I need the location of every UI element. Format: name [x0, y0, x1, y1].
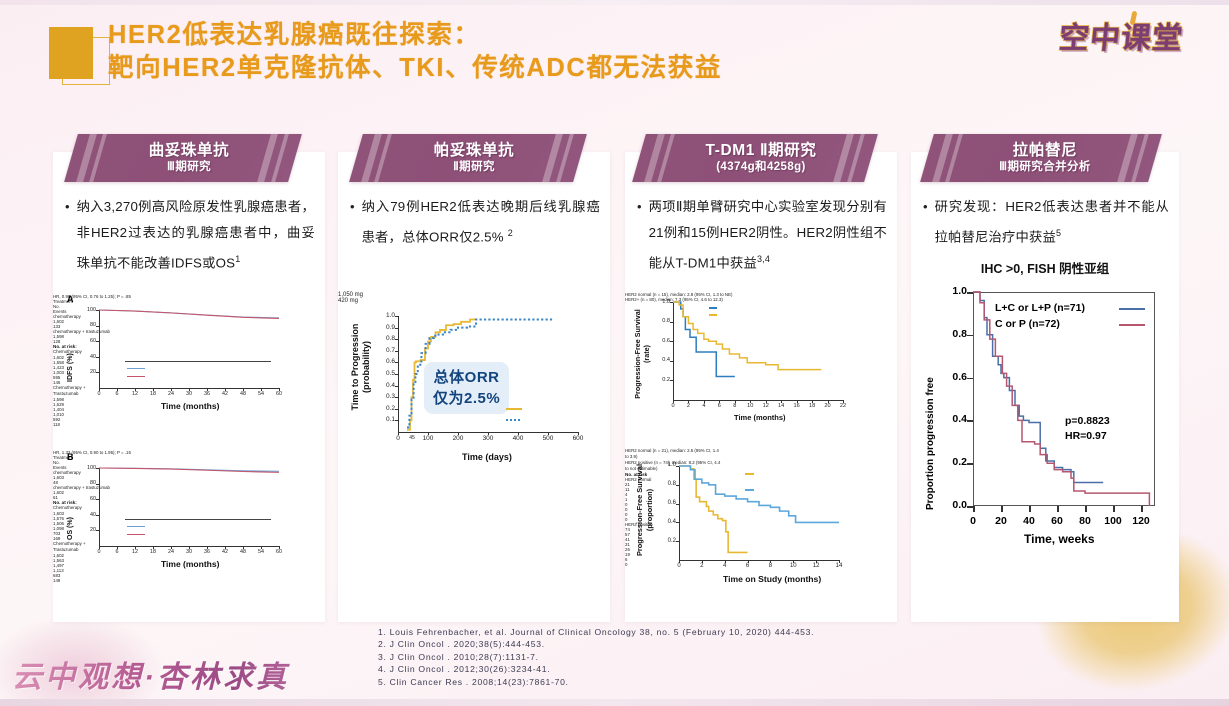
legend-swatch: [745, 473, 754, 475]
panel-bullet: • 研究发现：HER2低表达患者并不能从拉帕替尼治疗中获益5: [923, 194, 1169, 250]
legend-swatch: [506, 419, 522, 421]
chart-series-line: [673, 302, 821, 370]
chart-pfs-rate: 02468101214161820220.20.40.60.81.0Progre…: [625, 292, 897, 448]
reference-item: 3. J Clin Oncol . 2010;28(7):1131-7.: [378, 651, 1078, 663]
legend-swatch: [1119, 308, 1145, 310]
chart-idfs: A0612182430364248546020406080100IDFS (%)…: [53, 294, 325, 446]
chart-series-line: [679, 466, 839, 522]
panel-banner: [64, 134, 302, 182]
chart-stat-line: p=0.8823: [1065, 414, 1110, 429]
bullet-text: 纳入79例HER2低表达晚期后线乳腺癌患者，总体ORR仅2.5% 2: [362, 194, 600, 250]
slide-header: HER2低表达乳腺癌既往探索： 靶向HER2单克隆抗体、TKI、传统ADC都无法…: [0, 5, 1229, 97]
legend-swatch: [506, 408, 522, 410]
legend-label: C or P (n=72): [995, 316, 1060, 332]
chart-curves: [338, 292, 610, 592]
reference-item: 1. Louis Fehrenbacher, et al. Journal of…: [378, 626, 1078, 638]
bullet-text: 两项Ⅱ期单臂研究中心实验室发现分别有21例和15例HER2阴性。HER2阴性组不…: [649, 194, 887, 276]
panel-pertuzumab: 帕妥珠单抗 Ⅱ期研究 • 纳入79例HER2低表达晚期后线乳腺癌患者，总体ORR…: [338, 152, 610, 622]
page-title: HER2低表达乳腺癌既往探索： 靶向HER2单克隆抗体、TKI、传统ADC都无法…: [108, 19, 888, 85]
legend-swatch: [127, 534, 145, 535]
chart-curves: [53, 450, 325, 610]
reference-item: 4. J Clin Oncol . 2012;30(26):3234-41.: [378, 663, 1078, 675]
chart-series-line: [99, 468, 279, 472]
bottom-border: [0, 699, 1229, 706]
reference-item: 5. Clin Cancer Res . 2008;14(23):7861-70…: [378, 676, 1078, 688]
bullet-text: 纳入3,270例高风险原发性乳腺癌患者，非HER2过表达的乳腺癌患者中，曲妥珠单…: [77, 194, 315, 276]
bullet-dot-icon: •: [923, 194, 928, 250]
chart-time-to-progression: 01002003004005006000.10.20.30.40.50.60.7…: [338, 292, 610, 592]
chart-lapatinib-pfs: IHC >0, FISH 阴性亚组0.00.20.40.60.81.002040…: [911, 252, 1179, 592]
panel-bullet: • 两项Ⅱ期单臂研究中心实验室发现分别有21例和15例HER2阴性。HER2阴性…: [637, 194, 887, 276]
orr-callout-line: 仅为2.5%: [433, 388, 500, 409]
chart-pfs-proportion: 024681012140.20.40.60.81.0Progression-Fr…: [625, 448, 897, 618]
chart-curves: [625, 448, 897, 618]
panel-bullet: • 纳入3,270例高风险原发性乳腺癌患者，非HER2过表达的乳腺癌患者中，曲妥…: [65, 194, 315, 276]
panel-bullet: • 纳入79例HER2低表达晚期后线乳腺癌患者，总体ORR仅2.5% 2: [350, 194, 600, 250]
references-list: 1. Louis Fehrenbacher, et al. Journal of…: [378, 626, 1078, 688]
panel-banner: [920, 134, 1162, 182]
legend-swatch: [709, 307, 717, 309]
legend-swatch: [127, 376, 145, 377]
panel-banner: [632, 134, 878, 182]
legend-label: L+C or L+P (n=71): [995, 300, 1085, 316]
bullet-dot-icon: •: [350, 194, 355, 250]
legend-rule: [125, 519, 271, 520]
chart-series-line: [679, 466, 748, 552]
chart-stat-line: HR=0.97: [1065, 429, 1110, 444]
chart-os: B0612182430364248546020406080100OS (%)Ti…: [53, 450, 325, 610]
legend-swatch: [745, 489, 754, 491]
chart-curves: [625, 292, 897, 448]
brand-footer: 云中观想·杏林求真: [12, 652, 352, 696]
chart-stats: p=0.8823HR=0.97: [1065, 414, 1110, 444]
chart-series-line: [99, 310, 279, 318]
legend-swatch: [1119, 324, 1145, 326]
chart-curves: [53, 294, 325, 446]
orr-callout: 总体ORR仅为2.5%: [424, 362, 509, 414]
bullet-text: 研究发现：HER2低表达患者并不能从拉帕替尼治疗中获益5: [935, 194, 1169, 250]
title-square-filled-icon: [49, 27, 93, 79]
orr-callout-line: 总体ORR: [433, 367, 500, 388]
bullet-dot-icon: •: [65, 194, 70, 276]
panel-trastuzumab: 曲妥珠单抗 Ⅲ期研究 • 纳入3,270例高风险原发性乳腺癌患者，非HER2过表…: [53, 152, 325, 622]
legend-swatch: [127, 526, 145, 527]
panel-banner: [349, 134, 587, 182]
legend-swatch: [709, 314, 717, 316]
legend-rule: [125, 361, 271, 362]
panel-tdm1: T-DM1 Ⅱ期研究 (4374g和4258g) • 两项Ⅱ期单臂研究中心实验室…: [625, 152, 897, 622]
panel-lapatinib: 拉帕替尼 Ⅲ期研究合并分析 • 研究发现：HER2低表达患者并不能从拉帕替尼治疗…: [911, 152, 1179, 622]
legend-swatch: [127, 368, 145, 369]
brand-logo-text: 空中课堂: [1032, 13, 1209, 65]
bullet-dot-icon: •: [637, 194, 642, 276]
brand-logo: 空中课堂: [1035, 13, 1207, 65]
slide-root: HER2低表达乳腺癌既往探索： 靶向HER2单克隆抗体、TKI、传统ADC都无法…: [0, 0, 1229, 706]
reference-item: 2. J Clin Oncol . 2020;38(5):444-453.: [378, 638, 1078, 650]
